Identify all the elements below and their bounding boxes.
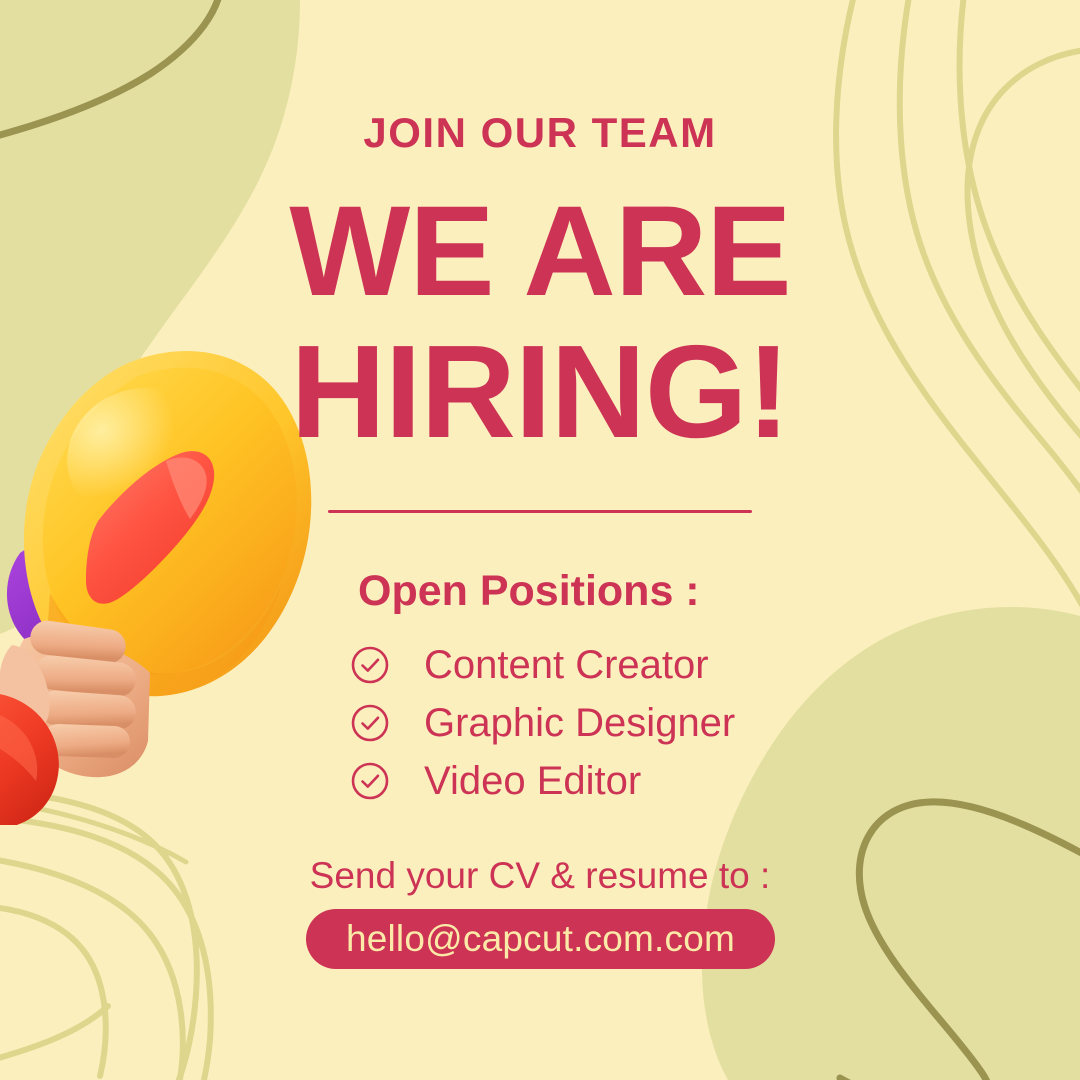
list-item: Content Creator: [350, 636, 735, 694]
position-label: Graphic Designer: [424, 703, 735, 743]
poster-content: JOIN OUR TEAM WE ARE HIRING! Open Positi…: [0, 0, 1080, 1080]
check-circle-icon: [350, 703, 390, 743]
list-item: Graphic Designer: [350, 694, 735, 752]
cv-instruction-text: Send your CV & resume to :: [0, 854, 1080, 898]
check-circle-icon: [350, 761, 390, 801]
open-positions-list: Content Creator Graphic Designer Video E…: [350, 636, 735, 810]
open-positions-title: Open Positions :: [358, 566, 700, 618]
check-circle-icon: [350, 645, 390, 685]
section-divider: [328, 510, 752, 513]
headline-line-2: HIRING!: [0, 326, 1080, 458]
list-item: Video Editor: [350, 752, 735, 810]
eyebrow-text: JOIN OUR TEAM: [0, 112, 1080, 154]
position-label: Video Editor: [424, 761, 641, 801]
position-label: Content Creator: [424, 645, 709, 685]
hiring-poster: JOIN OUR TEAM WE ARE HIRING! Open Positi…: [0, 0, 1080, 1080]
headline-line-1: WE ARE: [0, 188, 1080, 316]
email-cta-button[interactable]: hello@capcut.com.com: [306, 909, 775, 969]
